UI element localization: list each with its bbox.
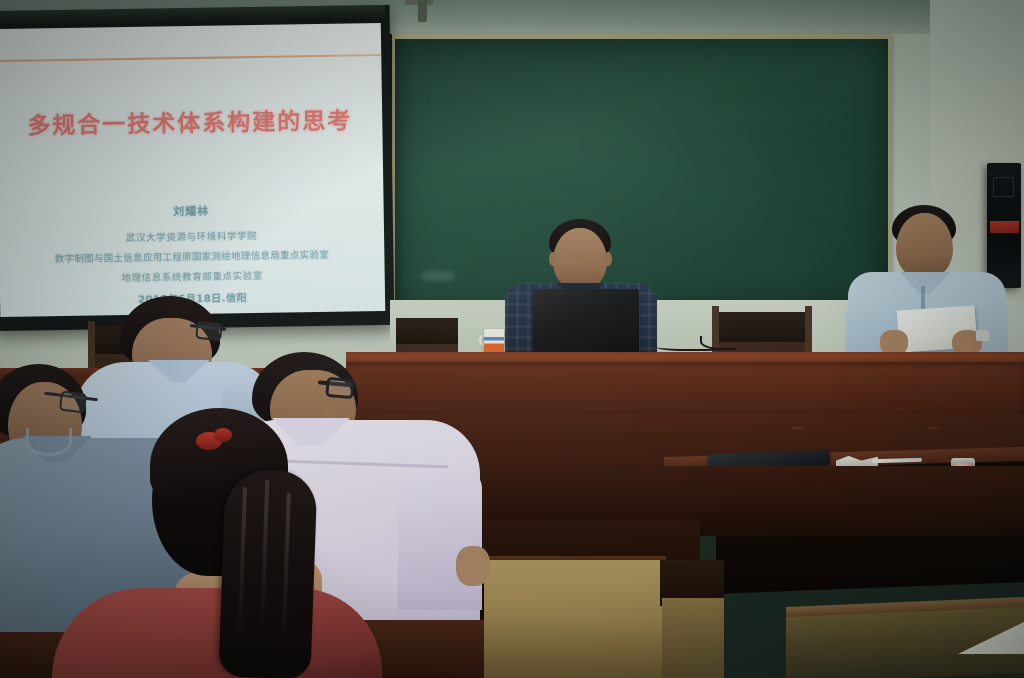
hair-strand — [282, 493, 291, 643]
glasses-icon — [59, 390, 87, 413]
audience-front-red-top — [52, 588, 382, 678]
lanyard — [26, 428, 72, 456]
screen-mount-bracket — [418, 0, 427, 22]
glasses-icon — [195, 321, 223, 342]
speaker-center-ear — [604, 252, 612, 266]
audience-right-arm — [398, 470, 482, 610]
speaker-label — [990, 221, 1019, 233]
head-table-front — [346, 362, 1024, 414]
speaker-right-head — [896, 213, 953, 279]
chair-post — [805, 306, 812, 358]
hair-strand — [260, 480, 269, 630]
slide-affiliation-2: 数字制图与国土信息应用工程原国家测绘地理信息局重点实验室 — [0, 246, 384, 266]
speaker-center-ear — [549, 252, 557, 266]
glasses-icon — [325, 377, 355, 399]
chalk-smudge — [421, 271, 455, 281]
blackboard-frame — [392, 34, 892, 316]
hair-tie — [214, 428, 232, 442]
hair-strand — [238, 487, 247, 637]
slide-presenter-name: 刘耀林 — [0, 200, 384, 222]
slide-divider-rule — [0, 54, 381, 62]
laptop — [533, 289, 639, 353]
chair-post — [88, 321, 95, 371]
presentation-slide: 多规合一技术体系构建的思考 刘耀林 武汉大学资源与环境科学学院 数字制图与国土信… — [0, 23, 385, 317]
wainscot-panel — [484, 560, 662, 678]
blackboard-surface — [395, 39, 888, 309]
slide-affiliation-3: 地理信息系统教育部重点实验室 — [0, 266, 385, 286]
audience-front-ponytail — [218, 468, 317, 678]
slide-affiliation-1: 武汉大学资源与环境科学学院 — [0, 226, 384, 246]
chalk-smudge — [725, 107, 845, 121]
lecture-hall-photo: 多规合一技术体系构建的思考 刘耀林 武汉大学资源与环境科学学院 数字制图与国土信… — [0, 0, 1024, 678]
panel-chevron — [742, 426, 852, 448]
chair-backrest — [396, 318, 458, 344]
speaker-center-head — [553, 228, 607, 290]
projection-screen: 多规合一技术体系构建的思考 刘耀林 武汉大学资源与环境科学学院 数字制图与国土信… — [0, 5, 394, 331]
speaker-grill — [993, 177, 1014, 197]
wall-speaker-icon — [987, 163, 1021, 288]
wristwatch — [976, 330, 989, 341]
panel-chevron — [878, 426, 988, 448]
audience-right-hand — [456, 546, 490, 586]
slide-title: 多规合一技术体系构建的思考 — [0, 101, 383, 141]
wainscot-panel — [662, 598, 724, 678]
